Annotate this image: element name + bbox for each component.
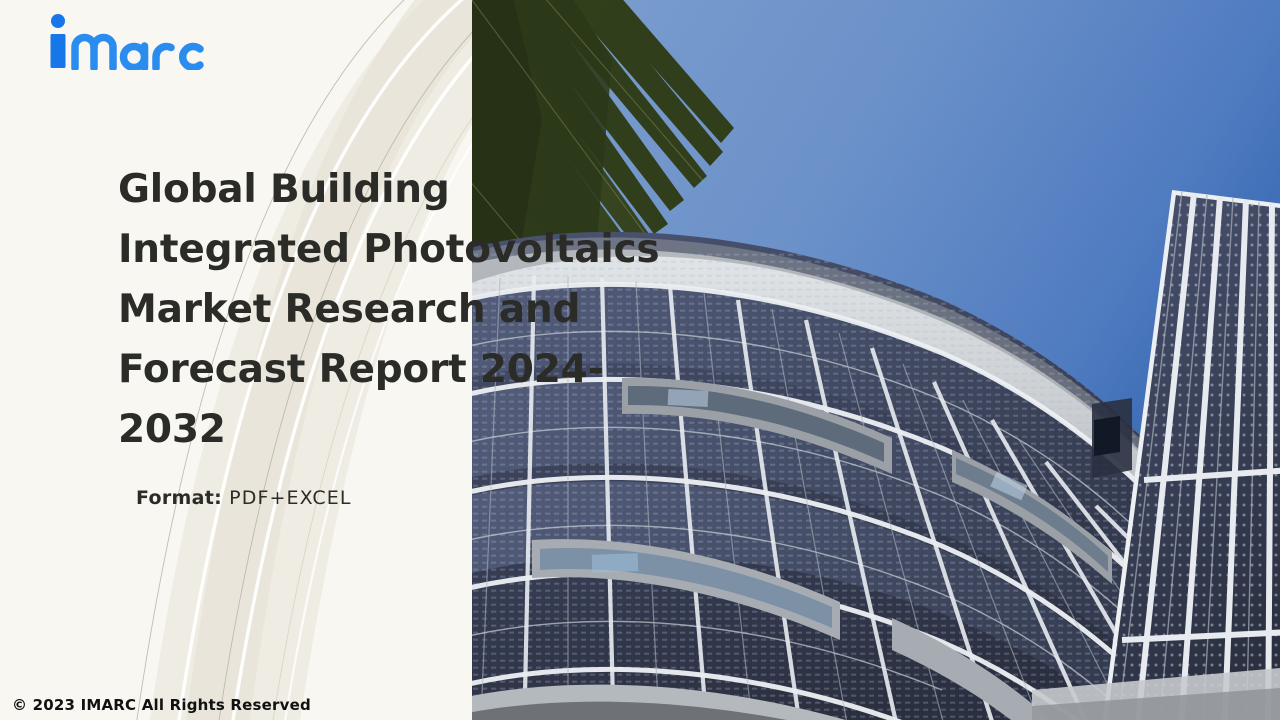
copyright-footer: © 2023 IMARC All Rights Reserved: [12, 696, 311, 714]
format-line: Format: PDF+EXCEL: [136, 487, 352, 509]
format-label: Format:: [136, 487, 222, 509]
imarc-logo[interactable]: [44, 12, 204, 70]
title-block: Global Building Integrated Photovoltaics…: [118, 160, 678, 460]
report-cover: Global Building Integrated Photovoltaics…: [0, 0, 1280, 720]
format-value: PDF+EXCEL: [222, 487, 351, 509]
page-title: Global Building Integrated Photovoltaics…: [118, 160, 678, 460]
logo-dot: [51, 14, 65, 28]
logo-letter-i: [51, 34, 66, 68]
